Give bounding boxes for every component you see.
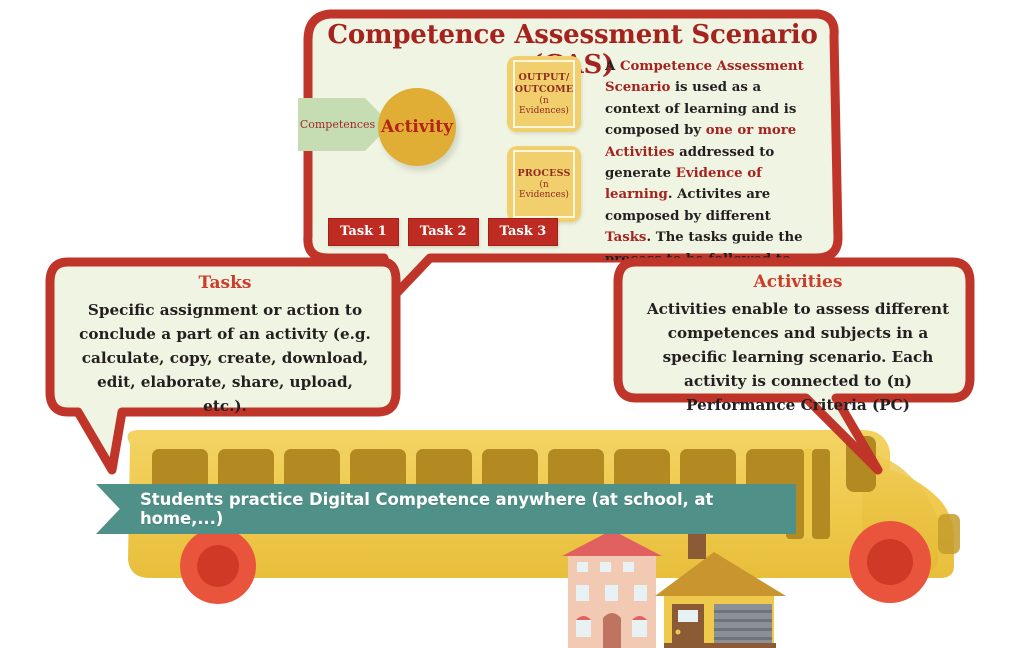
banner-ribbon: Students practice Digital Competence any…: [96, 484, 796, 534]
activities-callout: Activities Activities enable to assess d…: [628, 262, 968, 392]
activities-callout-body: Activities enable to assess different co…: [628, 292, 968, 417]
figure-canvas: Competence Assessment Scenario (CAS) Com…: [0, 0, 1024, 648]
banner-text: Students practice Digital Competence any…: [96, 490, 796, 528]
activities-callout-title: Activities: [628, 262, 968, 292]
